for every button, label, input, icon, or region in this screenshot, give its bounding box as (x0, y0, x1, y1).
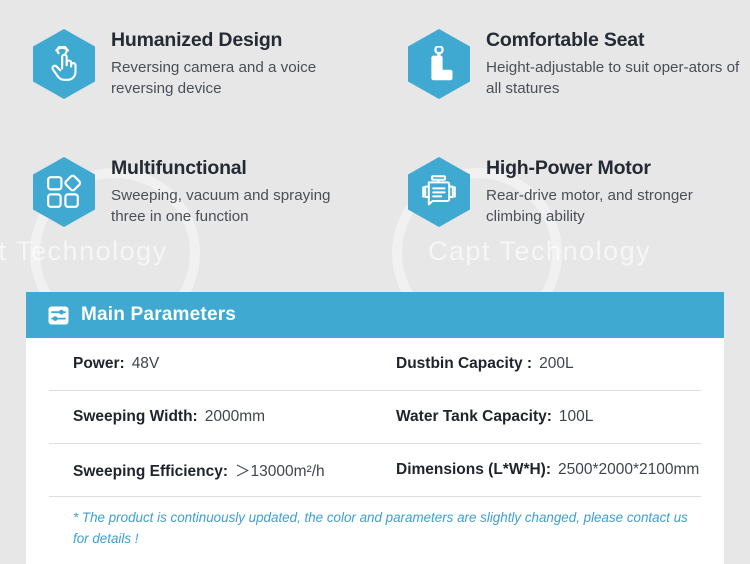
parameter-label: Dustbin Capacity : (396, 355, 532, 373)
parameter-cell: Sweeping Efficiency: ＞13000m²/h (49, 459, 371, 481)
feature-description: Rear-drive motor, and stronger climbing … (486, 185, 740, 228)
parameter-label: Water Tank Capacity: (396, 408, 552, 426)
feature-card-comfortable-seat: Comfortable Seat Height-adjustable to su… (375, 0, 750, 128)
main-parameters-body: Power: 48V Dustbin Capacity : 200L Sweep… (26, 338, 724, 564)
feature-icon-wrapper (33, 157, 95, 227)
parameter-value: 100L (559, 408, 593, 426)
feature-icon-wrapper (408, 29, 470, 99)
feature-description: Sweeping, vacuum and spraying three in o… (111, 185, 365, 228)
feature-text: Multifunctional Sweeping, vacuum and spr… (111, 157, 365, 228)
seat-icon (408, 29, 470, 99)
feature-card-humanized-design: Humanized Design Reversing camera and a … (0, 0, 375, 128)
feature-card-high-power-motor: High-Power Motor Rear-drive motor, and s… (375, 128, 750, 256)
feature-title: Humanized Design (111, 30, 365, 52)
feature-title: High-Power Motor (486, 158, 740, 180)
engine-motor-icon (408, 157, 470, 227)
parameter-cell: Dimensions (L*W*H): 2500*2000*2100mm (371, 461, 701, 479)
feature-title: Multifunctional (111, 158, 365, 180)
parameter-value: 2500*2000*2100mm (558, 461, 699, 479)
parameter-row: Sweeping Width: 2000mm Water Tank Capaci… (49, 391, 701, 444)
parameter-value: 2000mm (205, 408, 265, 426)
parameter-label: Sweeping Width: (73, 408, 198, 426)
feature-text: Humanized Design Reversing camera and a … (111, 29, 365, 100)
parameter-cell: Power: 48V (49, 355, 371, 373)
feature-text: Comfortable Seat Height-adjustable to su… (486, 29, 740, 100)
hand-tap-icon (33, 29, 95, 99)
parameter-label: Dimensions (L*W*H): (396, 461, 551, 479)
feature-description: Reversing camera and a voice reversing d… (111, 57, 365, 100)
parameter-label: Power: (73, 355, 125, 373)
feature-card-multifunctional: Multifunctional Sweeping, vacuum and spr… (0, 128, 375, 256)
sliders-icon (48, 305, 69, 326)
multi-shapes-icon (33, 157, 95, 227)
feature-text: High-Power Motor Rear-drive motor, and s… (486, 157, 740, 228)
parameter-cell: Sweeping Width: 2000mm (49, 408, 371, 426)
feature-description: Height-adjustable to suit oper-ators of … (486, 57, 740, 100)
main-parameters-panel: Main Parameters Power: 48V Dustbin Capac… (26, 292, 724, 564)
parameter-value: 48V (132, 355, 160, 373)
feature-icon-wrapper (33, 29, 95, 99)
parameter-label: Sweeping Efficiency: (73, 463, 228, 481)
parameter-cell: Water Tank Capacity: 100L (371, 408, 701, 426)
feature-grid: Humanized Design Reversing camera and a … (0, 0, 750, 256)
parameters-disclaimer-note: * The product is continuously updated, t… (26, 497, 724, 564)
parameter-value: ＞13000m²/h (235, 459, 325, 481)
parameter-value: 200L (539, 355, 573, 373)
parameter-cell: Dustbin Capacity : 200L (371, 355, 701, 373)
feature-icon-wrapper (408, 157, 470, 227)
parameter-row: Power: 48V Dustbin Capacity : 200L (49, 338, 701, 391)
main-parameters-title: Main Parameters (81, 304, 236, 326)
feature-title: Comfortable Seat (486, 30, 740, 52)
main-parameters-header: Main Parameters (26, 292, 724, 338)
parameter-row: Sweeping Efficiency: ＞13000m²/h Dimensio… (49, 444, 701, 497)
